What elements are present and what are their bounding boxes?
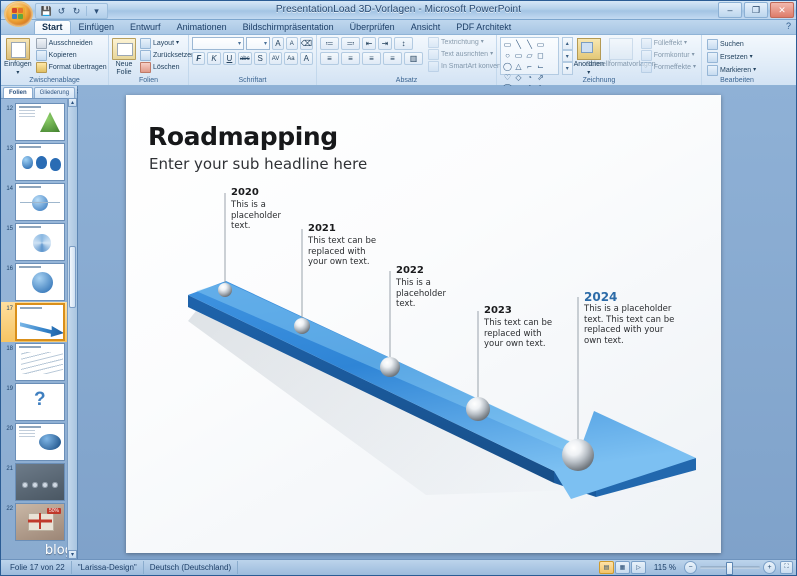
slide-preview[interactable] bbox=[15, 103, 65, 141]
paintbrush-icon bbox=[36, 62, 47, 73]
decrease-indent-button[interactable]: ⇤ bbox=[362, 37, 376, 50]
bold-button[interactable]: F bbox=[192, 52, 205, 65]
slides-group-label: Folien bbox=[109, 76, 188, 85]
tab-start[interactable]: Start bbox=[34, 20, 71, 34]
preview-gift-ribbon bbox=[28, 513, 52, 529]
slide-thumbnail-pane: Folien Gliederung ✕ 12 13 bbox=[1, 86, 78, 559]
reset-icon bbox=[140, 50, 151, 61]
preview-icon-dot bbox=[32, 482, 38, 488]
replace-label: Ersetzen bbox=[720, 53, 748, 62]
preview-icon-dot bbox=[22, 482, 28, 488]
preview-gearwheel-graphic bbox=[33, 234, 51, 252]
preview-photo-background: 50% bbox=[16, 504, 64, 540]
cut-button[interactable]: Ausschneiden bbox=[34, 38, 109, 49]
thumbnail-item-19[interactable]: 19 ? bbox=[1, 382, 77, 422]
quick-styles-button[interactable]: Schnellformatvorlagen bbox=[605, 37, 637, 77]
slide-number: 13 bbox=[3, 143, 13, 153]
milestone-sphere-2023[interactable] bbox=[466, 397, 490, 421]
thumbnail-item-21[interactable]: 21 bbox=[1, 462, 77, 502]
shape-icon[interactable]: ⌐ bbox=[524, 61, 535, 72]
editing-group-label: Bearbeiten bbox=[702, 76, 772, 85]
status-bar: Folie 17 von 22 "Larissa-Design" Deutsch… bbox=[1, 559, 796, 575]
delete-label: Löschen bbox=[153, 63, 179, 72]
copy-label: Kopieren bbox=[49, 51, 77, 60]
new-slide-button[interactable]: Neue Folie bbox=[112, 37, 136, 77]
shape-icon[interactable]: ○ bbox=[502, 50, 513, 61]
milestone-text: This is a placeholder text. bbox=[396, 278, 460, 310]
slide-edit-area[interactable]: Roadmapping Enter your sub headline here bbox=[78, 86, 796, 559]
slide-preview[interactable]: ? bbox=[15, 383, 65, 421]
preview-lines-graphic bbox=[21, 352, 63, 374]
effects-icon bbox=[641, 62, 652, 73]
quick-styles-icon bbox=[609, 38, 633, 60]
tab-pdf-architekt[interactable]: PDF Architekt bbox=[448, 20, 519, 34]
preview-title-bar bbox=[19, 226, 41, 228]
clear-formatting-button[interactable]: ⌫ bbox=[300, 37, 313, 50]
preview-disc-graphic bbox=[39, 434, 61, 450]
tab-ueberpruefen[interactable]: Überprüfen bbox=[342, 20, 403, 34]
slide-preview[interactable] bbox=[15, 183, 65, 221]
shape-icon[interactable]: ◻ bbox=[535, 50, 546, 61]
clipboard-group-label: Zwischenablage bbox=[1, 76, 108, 85]
milestone-sphere-2022[interactable] bbox=[380, 357, 400, 377]
slide-preview[interactable] bbox=[15, 423, 65, 461]
text-direction-arrow[interactable]: ▾ bbox=[481, 38, 484, 47]
font-size-combo[interactable]: ▾ bbox=[246, 37, 270, 50]
milestone-text: This is a placeholder text. This text ca… bbox=[584, 304, 680, 346]
underline-button[interactable]: U bbox=[223, 52, 236, 65]
milestone-2023[interactable]: 2023 This text can be replaced with your… bbox=[484, 305, 556, 350]
close-button[interactable]: ✕ bbox=[770, 2, 794, 18]
tab-entwurf[interactable]: Entwurf bbox=[122, 20, 169, 34]
preview-discount-badge: 50% bbox=[47, 508, 61, 514]
preview-text-lines bbox=[19, 110, 35, 111]
text-direction-label: Textrichtung bbox=[441, 38, 479, 47]
preview-title-bar bbox=[19, 146, 41, 148]
shape-icon[interactable]: ▭ bbox=[535, 39, 546, 50]
align-right-button[interactable]: ≡ bbox=[362, 52, 381, 65]
preview-bulbs-graphic bbox=[22, 156, 33, 169]
shape-outline-label: Formkontur bbox=[654, 51, 690, 60]
binoculars-icon bbox=[707, 39, 718, 50]
tab-einfuegen[interactable]: Einfügen bbox=[71, 20, 123, 34]
select-arrow[interactable]: ▾ bbox=[753, 66, 756, 75]
ribbon-group-editing: Suchen Ersetzen ▾ Markieren ▾ Bearbeiten bbox=[702, 35, 772, 85]
preview-title-bar bbox=[19, 186, 41, 188]
align-text-icon bbox=[428, 49, 439, 60]
zoom-slider[interactable]: − + bbox=[680, 561, 780, 574]
line-spacing-button[interactable]: ↕ bbox=[394, 37, 413, 50]
preview-title-bar bbox=[19, 266, 41, 268]
select-button[interactable]: Markieren ▾ bbox=[705, 65, 769, 76]
milestone-year: 2020 bbox=[231, 187, 293, 199]
shape-icon[interactable]: △ bbox=[513, 61, 524, 72]
shape-icon[interactable]: ◯ bbox=[502, 61, 513, 72]
help-icon[interactable]: ? bbox=[786, 21, 791, 31]
italic-button[interactable]: K bbox=[207, 52, 220, 65]
slide-number: 16 bbox=[3, 263, 13, 273]
tab-animationen[interactable]: Animationen bbox=[169, 20, 235, 34]
cursor-select-icon bbox=[707, 65, 718, 76]
shape-outline-button[interactable]: Formkontur ▾ bbox=[639, 50, 698, 61]
milestone-2022[interactable]: 2022 This is a placeholder text. bbox=[396, 265, 460, 310]
current-slide[interactable]: Roadmapping Enter your sub headline here bbox=[126, 95, 721, 553]
slide-number: 15 bbox=[3, 223, 13, 233]
preview-question-mark-icon: ? bbox=[34, 390, 46, 409]
zoom-track[interactable] bbox=[700, 566, 760, 569]
thumbnail-item-17[interactable]: 17 bbox=[1, 302, 77, 342]
zoom-out-button[interactable]: − bbox=[684, 561, 697, 574]
slide-preview[interactable] bbox=[15, 223, 65, 261]
preview-icon-dot bbox=[52, 482, 58, 488]
tab-folien[interactable]: Folien bbox=[3, 87, 33, 98]
powerpoint-window: 💾 ↺ ↻ ▾ PresentationLoad 3D-Vorlagen - M… bbox=[0, 0, 797, 576]
gallery-down-icon[interactable]: ▾ bbox=[562, 50, 573, 63]
font-size-arrow[interactable]: ▾ bbox=[264, 40, 267, 47]
copy-button[interactable]: Kopieren bbox=[34, 50, 109, 61]
view-buttons: ▤ ▦ ▷ bbox=[595, 561, 650, 574]
ribbon-group-paragraph: ≔ ≕ ⇤ ⇥ ↕ ≡ ≡ ≡ ≡ ▥ bbox=[317, 35, 497, 85]
effects-arrow[interactable]: ▾ bbox=[693, 63, 696, 72]
replace-button[interactable]: Ersetzen ▾ bbox=[705, 52, 769, 63]
slide-number: 19 bbox=[3, 383, 13, 393]
thumbnail-pane-tabs: Folien Gliederung ✕ bbox=[1, 86, 77, 99]
layout-label: Layout bbox=[153, 39, 174, 48]
view-slideshow-button[interactable]: ▷ bbox=[631, 561, 646, 574]
outline-pen-icon bbox=[641, 50, 652, 61]
thumbnail-item-14[interactable]: 14 bbox=[1, 182, 77, 222]
align-center-button[interactable]: ≡ bbox=[341, 52, 360, 65]
shape-icon[interactable]: ⌙ bbox=[535, 61, 546, 72]
ribbon-group-clipboard: Einfügen ▾ Ausschneiden Kopieren Format … bbox=[1, 35, 109, 85]
tab-ansicht[interactable]: Ansicht bbox=[403, 20, 449, 34]
milestone-2020[interactable]: 2020 This is a placeholder text. bbox=[231, 187, 293, 232]
smartart-icon bbox=[428, 61, 439, 72]
ribbon-group-font: ▾ ▾ A A ⌫ F K U abc S AV Aa A Schrift bbox=[189, 35, 317, 85]
scroll-down-icon[interactable]: ▾ bbox=[68, 550, 77, 559]
slide-number: 21 bbox=[3, 463, 13, 473]
ribbon-group-slides: Neue Folie Layout ▾ Zurücksetzen Löschen bbox=[109, 35, 189, 85]
slide-number: 22 bbox=[3, 503, 13, 513]
thumbnail-item-20[interactable]: 20 bbox=[1, 422, 77, 462]
preview-dark-background bbox=[16, 464, 64, 500]
shape-icon[interactable]: ╲ bbox=[524, 39, 535, 50]
thumbnail-item-13[interactable]: 13 bbox=[1, 142, 77, 182]
copy-icon bbox=[36, 50, 47, 61]
increase-indent-button[interactable]: ⇥ bbox=[378, 37, 392, 50]
layout-dropdown-arrow[interactable]: ▾ bbox=[176, 39, 179, 48]
view-slide-sorter-button[interactable]: ▦ bbox=[615, 561, 630, 574]
milestone-year: 2023 bbox=[484, 305, 556, 317]
cut-label: Ausschneiden bbox=[49, 39, 93, 48]
minimize-button[interactable]: – bbox=[718, 2, 742, 18]
new-slide-label: Neue Folie bbox=[112, 61, 136, 77]
preview-title-bar bbox=[20, 307, 42, 309]
office-button[interactable] bbox=[4, 1, 33, 27]
thumbnail-item-12[interactable]: 12 bbox=[1, 102, 77, 142]
align-left-button[interactable]: ≡ bbox=[320, 52, 339, 65]
ribbon-group-drawing: ▭ ╲ ╲ ▭ ○ ▭ ▱ ◻ ◯ △ ⌐ ⌙ ♡ ◇ ◔ ⇗ ⌒ bbox=[497, 35, 702, 85]
shape-icon[interactable]: ▱ bbox=[524, 50, 535, 61]
slide-number: 14 bbox=[3, 183, 13, 193]
maximize-button[interactable]: ❐ bbox=[744, 2, 768, 18]
ribbon: Einfügen ▾ Ausschneiden Kopieren Format … bbox=[1, 35, 796, 86]
milestone-text: This is a placeholder text. bbox=[231, 200, 293, 232]
numbering-button[interactable]: ≕ bbox=[341, 37, 360, 50]
slide-preview[interactable]: 50% bbox=[15, 503, 65, 541]
preview-house-graphic bbox=[40, 112, 60, 132]
preview-text-lines bbox=[19, 430, 35, 431]
scroll-up-icon[interactable]: ▴ bbox=[68, 98, 77, 107]
layout-icon bbox=[140, 38, 151, 49]
character-spacing-button[interactable]: AV bbox=[269, 52, 282, 65]
font-group-label: Schriftart bbox=[189, 76, 316, 85]
align-text-arrow[interactable]: ▾ bbox=[490, 50, 493, 59]
outline-arrow[interactable]: ▾ bbox=[692, 51, 695, 60]
slide-preview-current[interactable] bbox=[15, 303, 65, 341]
milestone-year: 2021 bbox=[308, 223, 380, 235]
gallery-up-icon[interactable]: ▴ bbox=[562, 37, 573, 50]
milestone-sphere-2024[interactable] bbox=[562, 439, 594, 471]
fit-slide-button[interactable]: ⛶ bbox=[780, 561, 793, 574]
slide-preview[interactable] bbox=[15, 143, 65, 181]
preview-icon-dot bbox=[42, 482, 48, 488]
window-title: PresentationLoad 3D-Vorlagen - Microsoft… bbox=[1, 4, 796, 15]
preview-title-bar bbox=[19, 426, 41, 428]
slide-number: 17 bbox=[3, 303, 13, 313]
preview-gears-graphic bbox=[32, 195, 48, 211]
milestone-year: 2022 bbox=[396, 265, 460, 277]
drawing-group-label: Zeichnung bbox=[497, 76, 701, 85]
text-shadow-button[interactable]: S bbox=[254, 52, 267, 65]
workspace: Folien Gliederung ✕ 12 13 bbox=[1, 86, 796, 559]
shrink-font-button[interactable]: A bbox=[286, 37, 298, 50]
bullets-button[interactable]: ≔ bbox=[320, 37, 339, 50]
slide-preview[interactable] bbox=[15, 463, 65, 501]
fill-bucket-icon bbox=[641, 38, 652, 49]
slide-counter: Folie 17 von 22 bbox=[4, 561, 72, 574]
theme-name: "Larissa-Design" bbox=[72, 561, 144, 574]
arrange-icon bbox=[577, 38, 601, 60]
font-name-combo[interactable]: ▾ bbox=[192, 37, 244, 50]
milestone-sphere-2020[interactable] bbox=[218, 283, 232, 297]
slide-number: 18 bbox=[3, 343, 13, 353]
thumbnail-item-16[interactable]: 16 bbox=[1, 262, 77, 302]
shape-effects-label: Formeffekte bbox=[654, 63, 691, 72]
text-direction-icon bbox=[428, 37, 439, 48]
replace-icon bbox=[707, 52, 718, 63]
shape-effects-button[interactable]: Formeffekte ▾ bbox=[639, 62, 698, 73]
slide-preview[interactable] bbox=[15, 343, 65, 381]
ribbon-tab-bar: Start Einfügen Entwurf Animationen Bilds… bbox=[1, 20, 796, 35]
justify-button[interactable]: ≡ bbox=[383, 52, 402, 65]
milestone-year: 2024 bbox=[584, 291, 680, 303]
preview-title-bar bbox=[19, 106, 41, 108]
slide-number: 12 bbox=[3, 103, 13, 113]
replace-arrow[interactable]: ▾ bbox=[750, 53, 753, 62]
format-painter-button[interactable]: Format übertragen bbox=[34, 62, 109, 73]
scissors-icon bbox=[36, 38, 47, 49]
tab-bildschirmpraesentation[interactable]: Bildschirmpräsentation bbox=[235, 20, 342, 34]
slide-number: 20 bbox=[3, 423, 13, 433]
gallery-more-icon[interactable]: ▾ bbox=[562, 62, 573, 75]
thumbnail-item-18[interactable]: 18 bbox=[1, 342, 77, 382]
shape-fill-button[interactable]: Fülleffekt ▾ bbox=[639, 38, 698, 49]
font-color-button[interactable]: A bbox=[300, 52, 313, 65]
shape-icon[interactable]: ╲ bbox=[513, 39, 524, 50]
milestone-text: This text can be replaced with your own … bbox=[484, 318, 556, 350]
view-normal-button[interactable]: ▤ bbox=[599, 561, 614, 574]
zoom-level[interactable]: 115 % bbox=[650, 561, 680, 574]
zoom-in-button[interactable]: + bbox=[763, 561, 776, 574]
thumbnail-item-22[interactable]: 22 50% bbox=[1, 502, 77, 542]
preview-sphere-graphic bbox=[32, 272, 53, 293]
milestone-2021[interactable]: 2021 This text can be replaced with your… bbox=[308, 223, 380, 268]
language-indicator[interactable]: Deutsch (Deutschland) bbox=[144, 561, 238, 574]
columns-button[interactable]: ▥ bbox=[404, 52, 423, 65]
milestone-2024[interactable]: 2024 This is a placeholder text. This te… bbox=[584, 291, 680, 346]
milestone-text: This text can be replaced with your own … bbox=[308, 236, 380, 268]
change-case-button[interactable]: Aa bbox=[284, 52, 297, 65]
font-name-arrow[interactable]: ▾ bbox=[238, 40, 241, 47]
thumbnail-item-15[interactable]: 15 bbox=[1, 222, 77, 262]
window-controls: – ❐ ✕ bbox=[718, 2, 794, 18]
shapes-gallery-scroll[interactable]: ▴ ▾ ▾ bbox=[562, 37, 573, 75]
zoom-thumb[interactable] bbox=[726, 562, 733, 575]
preview-arrow-graphic bbox=[20, 319, 64, 337]
delete-icon bbox=[140, 62, 151, 73]
arrange-button[interactable]: Anordnen ▾ bbox=[575, 37, 603, 77]
shape-icon[interactable]: ▭ bbox=[502, 39, 513, 50]
title-bar: 💾 ↺ ↻ ▾ PresentationLoad 3D-Vorlagen - M… bbox=[1, 1, 796, 20]
align-text-label: Text ausrichten bbox=[441, 50, 488, 59]
scrollbar-thumb[interactable] bbox=[69, 246, 76, 308]
thumbnail-scrollbar[interactable]: ▴ ▾ bbox=[67, 98, 77, 559]
shape-icon[interactable]: ▭ bbox=[513, 50, 524, 61]
find-button[interactable]: Suchen bbox=[705, 39, 769, 50]
grow-font-button[interactable]: A bbox=[272, 37, 284, 50]
select-label: Markieren bbox=[720, 66, 751, 75]
shapes-gallery[interactable]: ▭ ╲ ╲ ▭ ○ ▭ ▱ ◻ ◯ △ ⌐ ⌙ ♡ ◇ ◔ ⇗ ⌒ bbox=[500, 37, 559, 75]
milestone-sphere-2021[interactable] bbox=[294, 318, 310, 334]
find-label: Suchen bbox=[720, 40, 744, 49]
preview-title-bar bbox=[19, 346, 41, 348]
fill-arrow[interactable]: ▾ bbox=[684, 39, 687, 48]
tab-gliederung[interactable]: Gliederung bbox=[34, 87, 75, 98]
paste-label: Einfügen bbox=[4, 61, 32, 69]
paste-button[interactable]: Einfügen ▾ bbox=[4, 37, 32, 77]
shape-fill-label: Fülleffekt bbox=[654, 39, 682, 48]
paste-icon bbox=[6, 38, 30, 60]
thumbnail-list[interactable]: 12 13 14 bbox=[1, 99, 77, 559]
strikethrough-button[interactable]: abc bbox=[238, 52, 251, 65]
format-painter-label: Format übertragen bbox=[49, 63, 107, 72]
new-slide-icon bbox=[112, 38, 136, 60]
slide-preview[interactable] bbox=[15, 263, 65, 301]
office-logo-icon bbox=[11, 7, 25, 20]
paragraph-group-label: Absatz bbox=[317, 76, 496, 85]
